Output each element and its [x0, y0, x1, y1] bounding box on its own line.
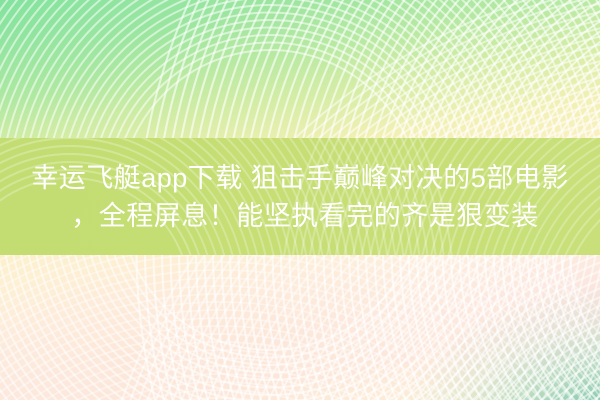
banner-image: 幸运飞艇app下载 狙击手巅峰对决的5部电影 ，全程屏息！能坚执看完的齐是狠变装 [0, 0, 600, 400]
headline-band: 幸运飞艇app下载 狙击手巅峰对决的5部电影 ，全程屏息！能坚执看完的齐是狠变装 [0, 138, 600, 255]
headline-line-1: 幸运飞艇app下载 狙击手巅峰对决的5部电影 [31, 160, 569, 196]
headline-text-block: 幸运飞艇app下载 狙击手巅峰对决的5部电影 ，全程屏息！能坚执看完的齐是狠变装 [0, 138, 600, 255]
arc-family-bottom-left [0, 230, 600, 400]
headline-line-2: ，全程屏息！能坚执看完的齐是狠变装 [61, 198, 539, 234]
